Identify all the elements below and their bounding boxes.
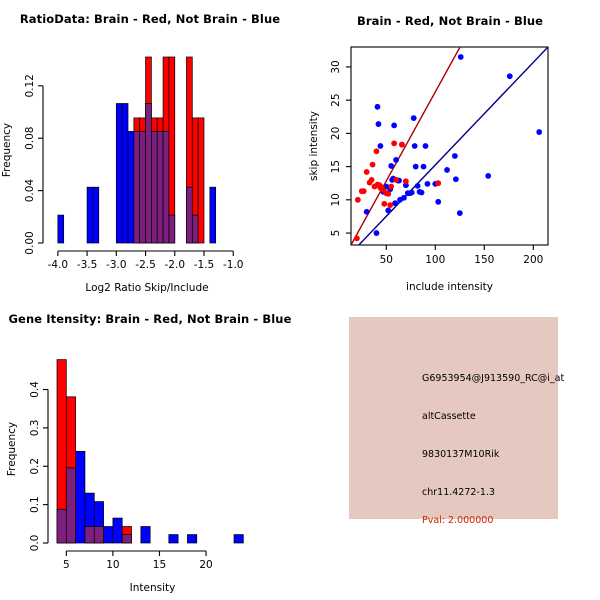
histogram-bar-overlap — [66, 468, 75, 543]
scatter-point — [391, 140, 397, 146]
histogram-bar-not-brain — [76, 451, 85, 543]
scatter-point — [393, 177, 399, 183]
scatter-point — [423, 143, 429, 149]
scatter-plot: 50100150200include intensity51015202530s… — [300, 0, 600, 300]
histogram-bar-brain — [57, 360, 66, 510]
histogram-bar-brain — [157, 118, 163, 131]
svg-text:-3.5: -3.5 — [77, 259, 98, 271]
histogram-bar-brain — [66, 397, 75, 468]
histogram-bar-not-brain — [113, 518, 122, 543]
histogram-bar-not-brain — [210, 187, 216, 243]
histogram-bar-not-brain — [128, 131, 134, 243]
scatter-point — [435, 199, 441, 205]
histogram-bar-overlap — [151, 131, 157, 243]
svg-text:20: 20 — [330, 127, 342, 140]
scatter-point — [376, 121, 382, 127]
svg-text:100: 100 — [425, 254, 445, 266]
scatter-point — [388, 163, 394, 169]
histogram-bar-brain — [122, 527, 131, 535]
svg-text:50: 50 — [380, 254, 393, 266]
panel-scatter: Brain - Red, Not Brain - Blue 5010015020… — [300, 0, 600, 300]
scatter-point — [355, 197, 361, 203]
histogram-bar-brain — [163, 57, 169, 131]
scatter-point — [364, 209, 370, 215]
scatter-point — [457, 210, 463, 216]
svg-text:0.2: 0.2 — [29, 458, 41, 475]
gene-symbol-text: 9830137M10Rik — [422, 449, 499, 460]
event-type-text: altCassette — [422, 411, 476, 422]
axes: 5101520Intensity0.00.10.20.30.4Frequency — [6, 381, 213, 594]
svg-text:10: 10 — [106, 559, 119, 571]
scatter-point — [387, 202, 393, 208]
histogram-bar-overlap — [169, 215, 175, 243]
svg-text:0.1: 0.1 — [29, 496, 41, 513]
svg-text:20: 20 — [199, 559, 212, 571]
svg-text:10: 10 — [330, 193, 342, 206]
svg-text:5: 5 — [330, 230, 342, 237]
svg-text:Frequency: Frequency — [6, 422, 18, 476]
scatter-point — [435, 180, 441, 186]
svg-text:include intensity: include intensity — [406, 281, 493, 293]
svg-text:0.4: 0.4 — [29, 381, 41, 398]
svg-text:15: 15 — [153, 559, 166, 571]
svg-text:30: 30 — [330, 60, 342, 73]
gene-info-box: G6953954@J913590_RC@i_at altCassette 983… — [349, 317, 558, 519]
svg-text:0.12: 0.12 — [24, 74, 36, 97]
histogram-bars — [58, 57, 216, 243]
scatter-point — [485, 173, 491, 179]
histogram-bar-overlap — [134, 131, 140, 243]
histogram-bar-not-brain — [116, 104, 122, 244]
svg-text:0.0: 0.0 — [29, 535, 41, 552]
scatter-series — [354, 140, 441, 241]
scatter-point — [370, 162, 376, 168]
scatter-point — [419, 190, 425, 196]
svg-text:-1.0: -1.0 — [223, 259, 244, 271]
figure-canvas: RatioData: Brain - Red, Not Brain - Blue… — [0, 0, 600, 600]
scatter-point — [411, 115, 417, 121]
scatter-point — [415, 183, 421, 189]
scatter-point — [403, 178, 409, 184]
probe-id-text: G6953954@J913590_RC@i_at — [422, 373, 564, 384]
scatter-point — [536, 129, 542, 135]
scatter-point — [381, 201, 387, 207]
histogram-bars — [57, 360, 243, 543]
scatter-point — [399, 142, 405, 148]
scatter-point — [375, 104, 381, 110]
svg-text:Intensity: Intensity — [130, 582, 176, 594]
scatter-point — [378, 143, 384, 149]
svg-text:Frequency: Frequency — [1, 123, 13, 177]
histogram-bar-overlap — [140, 131, 146, 243]
scatter-point — [388, 184, 394, 190]
svg-text:200: 200 — [523, 254, 543, 266]
svg-text:-4.0: -4.0 — [48, 259, 69, 271]
scatter-point — [374, 230, 380, 236]
histogram-bar-not-brain — [93, 187, 99, 243]
svg-text:skip intensity: skip intensity — [308, 111, 320, 181]
scatter-point — [391, 123, 397, 129]
histogram-bar-brain — [146, 57, 152, 104]
scatter-point — [421, 164, 427, 170]
svg-text:0.08: 0.08 — [24, 127, 36, 150]
histogram-bar-overlap — [186, 187, 192, 243]
svg-text:-2.5: -2.5 — [135, 259, 156, 271]
histogram-bar-not-brain — [169, 535, 178, 543]
histogram-bar-not-brain — [141, 527, 150, 543]
histogram-bar-overlap — [163, 131, 169, 243]
regression-line-brain-fit — [351, 46, 461, 245]
scatter-point — [374, 148, 380, 154]
svg-text:-3.0: -3.0 — [106, 259, 127, 271]
histogram-bar-overlap — [57, 509, 66, 543]
svg-text:-2.0: -2.0 — [165, 259, 186, 271]
histogram-bar-not-brain — [104, 527, 113, 543]
histogram-bar-not-brain — [58, 215, 64, 243]
histogram-bar-not-brain — [87, 187, 93, 243]
svg-text:0.00: 0.00 — [24, 231, 36, 254]
panel-ratio-histogram: RatioData: Brain - Red, Not Brain - Blue… — [0, 0, 300, 300]
scatter-point — [425, 181, 431, 187]
svg-text:5: 5 — [63, 559, 70, 571]
scatter-point — [364, 169, 370, 175]
scatter-point — [393, 157, 399, 163]
svg-text:0.3: 0.3 — [29, 420, 41, 437]
scatter-point — [361, 188, 367, 194]
histogram-bar-overlap — [192, 215, 198, 243]
histogram-bar-not-brain — [234, 535, 243, 543]
scatter-point — [409, 190, 415, 196]
ratio-histogram-plot: -4.0-3.5-3.0-2.5-2.0-1.5-1.0Log2 Ratio S… — [0, 0, 300, 300]
scatter-content — [351, 46, 548, 245]
scatter-point — [369, 177, 375, 183]
scatter-point — [458, 54, 464, 60]
svg-text:150: 150 — [474, 254, 494, 266]
panel-gene-info: G6953954@J913590_RC@i_at altCassette 983… — [300, 300, 600, 600]
svg-text:-1.5: -1.5 — [194, 259, 215, 271]
gene-histogram-plot: 5101520Intensity0.00.10.20.30.4Frequency — [0, 300, 300, 600]
scatter-point — [385, 208, 391, 214]
axes: 50100150200include intensity51015202530s… — [308, 60, 543, 293]
histogram-bar-overlap — [85, 527, 94, 543]
histogram-bar-overlap — [122, 535, 131, 543]
scatter-point — [401, 195, 407, 201]
histogram-bar-brain — [169, 57, 175, 215]
svg-text:25: 25 — [330, 93, 342, 106]
pval-text: Pval: 2.000000 — [422, 515, 493, 526]
scatter-point — [413, 164, 419, 170]
histogram-bar-overlap — [94, 527, 103, 543]
histogram-bar-brain — [186, 57, 192, 187]
scatter-point — [385, 191, 391, 197]
histogram-bar-brain — [192, 118, 198, 215]
regression-line-not-brain-fit — [359, 47, 548, 245]
histogram-bar-brain — [134, 118, 140, 131]
scatter-point — [412, 143, 418, 149]
histogram-bar-brain — [140, 118, 146, 131]
histogram-bar-brain — [151, 118, 157, 131]
histogram-bar-brain — [198, 118, 204, 243]
svg-text:15: 15 — [330, 160, 342, 173]
histogram-bar-not-brain — [187, 535, 196, 543]
histogram-bar-not-brain — [122, 104, 128, 244]
histogram-bar-overlap — [157, 131, 163, 243]
histogram-bar-overlap — [146, 104, 152, 244]
scatter-point — [452, 153, 458, 159]
svg-text:Log2 Ratio Skip/Include: Log2 Ratio Skip/Include — [85, 282, 208, 294]
svg-text:0.04: 0.04 — [24, 179, 36, 203]
locus-text: chr11.4272-1.3 — [422, 487, 495, 498]
panel-gene-histogram: Gene Itensity: Brain - Red, Not Brain - … — [0, 300, 300, 600]
scatter-point — [354, 235, 360, 241]
scatter-point — [507, 73, 513, 79]
scatter-point — [453, 176, 459, 182]
scatter-point — [444, 167, 450, 173]
